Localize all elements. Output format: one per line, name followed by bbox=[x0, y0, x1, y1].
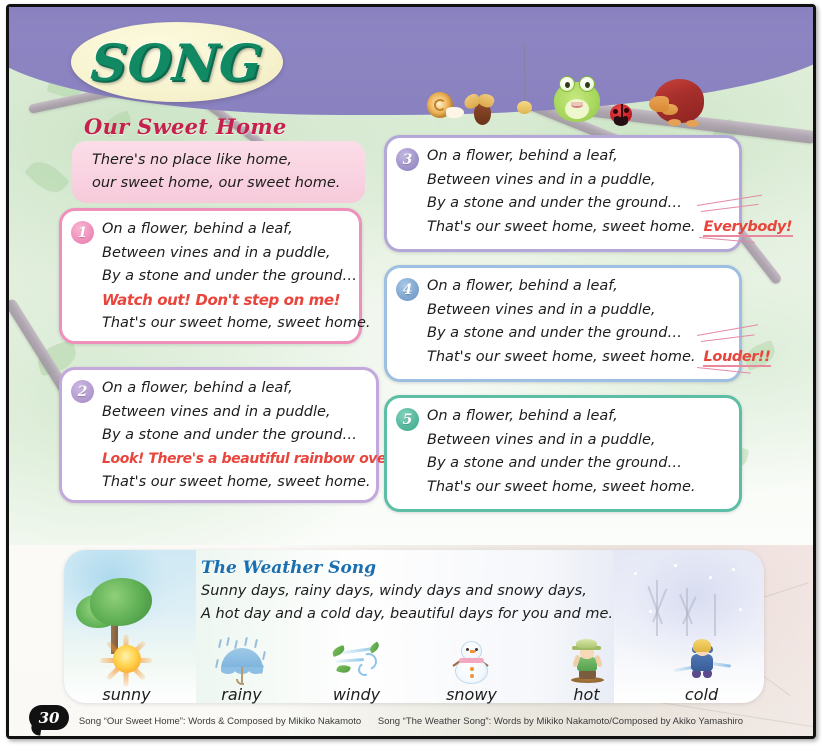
weather-item-sunny: sunny bbox=[69, 634, 184, 704]
verse-number-badge: 1 bbox=[71, 221, 94, 244]
boy-hat bbox=[576, 639, 597, 648]
page-frame: SONG bbox=[6, 4, 816, 739]
page-title: Our Sweet Home bbox=[84, 114, 287, 139]
credit-song2: Song “The Weather Song”: Words by Mikiko… bbox=[378, 716, 743, 727]
verse-line: By a stone and under the ground… bbox=[427, 322, 733, 346]
sun-icon bbox=[98, 637, 156, 683]
weather-items-row: sunny bbox=[69, 634, 759, 704]
verse-number-badge: 5 bbox=[396, 408, 419, 431]
snowflake bbox=[739, 608, 742, 611]
verse-last-line: That's our sweet home, sweet home. bbox=[427, 476, 733, 500]
chorus-line: our sweet home, our sweet home. bbox=[92, 172, 365, 195]
snowman-eye bbox=[466, 648, 469, 651]
verse-line: Between vines and in a puddle, bbox=[427, 299, 733, 323]
verse-shout-line: Look! There's a beautiful rainbow over o… bbox=[102, 448, 370, 472]
frog-eye-left bbox=[559, 76, 575, 92]
weather-item-snowy: snowy bbox=[414, 634, 529, 704]
frog-pupil bbox=[565, 82, 570, 88]
verse-tag-wrap: Everybody! bbox=[703, 216, 794, 240]
snowman-nose bbox=[470, 650, 476, 653]
verse-number-badge: 2 bbox=[71, 380, 94, 403]
verse-lines: On a flower, behind a leaf, Between vine… bbox=[102, 218, 353, 336]
girl-hair bbox=[693, 639, 711, 652]
verse-shout-line: Watch out! Don't step on me! bbox=[102, 289, 353, 313]
rain-drop bbox=[244, 637, 247, 646]
verse-line: By a stone and under the ground… bbox=[427, 192, 733, 216]
cold-girl-icon bbox=[673, 637, 731, 683]
umbrella-scallop bbox=[221, 667, 235, 674]
credits-line: Song “Our Sweet Home”: Words & Composed … bbox=[9, 716, 813, 727]
wind-leaf bbox=[336, 663, 351, 674]
credit-song1: Song “Our Sweet Home”: Words & Composed … bbox=[79, 716, 361, 727]
verse-line: Between vines and in a puddle, bbox=[102, 242, 353, 266]
weather-item-windy: windy bbox=[299, 634, 414, 704]
umbrella-rain-icon bbox=[213, 637, 271, 683]
mole-foot bbox=[686, 120, 699, 127]
snail-body bbox=[446, 107, 464, 118]
verse-line: On a flower, behind a leaf, bbox=[102, 377, 370, 401]
verse-last-line: That's our sweet home, sweet home. bbox=[102, 312, 353, 336]
verse-lines: On a flower, behind a leaf, Between vine… bbox=[427, 275, 733, 369]
mole-illustration bbox=[654, 79, 704, 123]
snail-illustration bbox=[427, 92, 453, 118]
snowflake bbox=[634, 572, 637, 575]
verse-number-badge: 4 bbox=[396, 278, 419, 301]
mole-snout bbox=[649, 96, 669, 112]
snowflake bbox=[649, 610, 652, 613]
leaf-shape bbox=[24, 155, 70, 200]
weather-item-hot: hot bbox=[529, 634, 644, 704]
snowman-button bbox=[470, 667, 474, 671]
verse-box-1: 1 On a flower, behind a leaf, Between vi… bbox=[59, 208, 362, 344]
winter-tree bbox=[714, 594, 716, 636]
verse-box-4: 4 On a flower, behind a leaf, Between vi… bbox=[384, 265, 742, 382]
frog-eye-right bbox=[579, 76, 595, 92]
verse-box-5: 5 On a flower, behind a leaf, Between vi… bbox=[384, 395, 742, 512]
verse-lines: On a flower, behind a leaf, Between vine… bbox=[427, 145, 733, 239]
weather-label: hot bbox=[573, 685, 599, 704]
chorus-box: There's no place like home, our sweet ho… bbox=[72, 141, 365, 203]
verse-line: By a stone and under the ground… bbox=[102, 424, 370, 448]
verse-tag: Louder!! bbox=[703, 349, 772, 367]
wind-swirl-icon bbox=[328, 637, 386, 683]
rain-drop bbox=[226, 637, 229, 646]
spider-body bbox=[517, 101, 532, 114]
verse-line: By a stone and under the ground… bbox=[427, 452, 733, 476]
rain-drop bbox=[215, 659, 218, 668]
spider-thread bbox=[524, 43, 525, 101]
verse-tag: Everybody! bbox=[703, 219, 794, 237]
weather-label: windy bbox=[333, 685, 380, 704]
verse-line: By a stone and under the ground… bbox=[102, 265, 353, 289]
umbrella-canopy bbox=[221, 648, 263, 669]
textbook-page: SONG bbox=[0, 0, 822, 752]
verse-lines: On a flower, behind a leaf, Between vine… bbox=[102, 377, 370, 495]
verse-last-line: That's our sweet home, sweet home. bbox=[427, 349, 696, 365]
wind-leaf bbox=[331, 645, 346, 657]
snowman-icon bbox=[443, 637, 501, 683]
chorus-line: There's no place like home, bbox=[92, 149, 365, 172]
frog-pupil bbox=[585, 82, 590, 88]
verse-line: On a flower, behind a leaf, bbox=[102, 218, 353, 242]
verse-box-3: 3 On a flower, behind a leaf, Between vi… bbox=[384, 135, 742, 252]
weather-song-line: Sunny days, rainy days, windy days and s… bbox=[201, 583, 587, 599]
girl-boot bbox=[692, 670, 701, 678]
frog-illustration bbox=[554, 82, 600, 122]
snowman-scarf bbox=[459, 658, 484, 663]
wind-leaf bbox=[367, 641, 380, 653]
weather-label: sunny bbox=[102, 685, 150, 704]
verse-line: On a flower, behind a leaf, bbox=[427, 275, 733, 299]
sun-core bbox=[113, 645, 141, 673]
frog-mouth bbox=[571, 102, 583, 108]
verse-tag-wrap: Louder!! bbox=[703, 346, 772, 370]
girl-boot bbox=[703, 670, 712, 678]
verse-last-line: That's our sweet home, sweet home. bbox=[427, 219, 696, 235]
snowflake bbox=[674, 564, 677, 567]
snowflake bbox=[732, 568, 735, 571]
girl-coat bbox=[691, 654, 713, 671]
weather-song-title: The Weather Song bbox=[201, 558, 376, 578]
verse-box-2: 2 On a flower, behind a leaf, Between vi… bbox=[59, 367, 379, 503]
hot-boy-icon bbox=[558, 637, 616, 683]
rain-drop bbox=[254, 639, 257, 648]
song-logo-badge: SONG bbox=[71, 22, 283, 102]
weather-item-cold: cold bbox=[644, 634, 759, 704]
verse-line: On a flower, behind a leaf, bbox=[427, 145, 733, 169]
verse-line: On a flower, behind a leaf, bbox=[427, 405, 733, 429]
snowflake bbox=[709, 576, 712, 579]
ladybug-dot bbox=[624, 108, 629, 113]
verse-line: Between vines and in a puddle, bbox=[427, 169, 733, 193]
song-logo-text: SONG bbox=[68, 22, 286, 102]
weather-label: cold bbox=[685, 685, 718, 704]
verse-line: Between vines and in a puddle, bbox=[427, 429, 733, 453]
mole-foot bbox=[668, 119, 681, 126]
verse-lines: On a flower, behind a leaf, Between vine… bbox=[427, 405, 733, 499]
snail-spiral bbox=[434, 99, 446, 111]
verse-line: Between vines and in a puddle, bbox=[102, 401, 370, 425]
rain-drop bbox=[218, 639, 221, 648]
ladybug-dot bbox=[613, 109, 618, 114]
ladybug-head bbox=[614, 117, 628, 126]
verse-number-badge: 3 bbox=[396, 148, 419, 171]
snowman-button bbox=[470, 674, 474, 678]
weather-label: snowy bbox=[446, 685, 497, 704]
verse-last-line-row: That's our sweet home, sweet home.Everyb… bbox=[427, 216, 733, 240]
verse-last-line: That's our sweet home, sweet home. bbox=[102, 471, 370, 495]
beetle-illustration bbox=[472, 97, 491, 125]
weather-song-line: A hot day and a cold day, beautiful days… bbox=[201, 606, 613, 622]
weather-item-rainy: rainy bbox=[184, 634, 299, 704]
rain-drop bbox=[262, 651, 265, 660]
spider-illustration bbox=[517, 101, 532, 114]
umbrella-scallop bbox=[249, 667, 263, 674]
verse-last-line-row: That's our sweet home, sweet home.Louder… bbox=[427, 346, 733, 370]
weather-label: rainy bbox=[221, 685, 261, 704]
tree-crown bbox=[90, 578, 152, 626]
ladybug-illustration bbox=[610, 104, 632, 124]
